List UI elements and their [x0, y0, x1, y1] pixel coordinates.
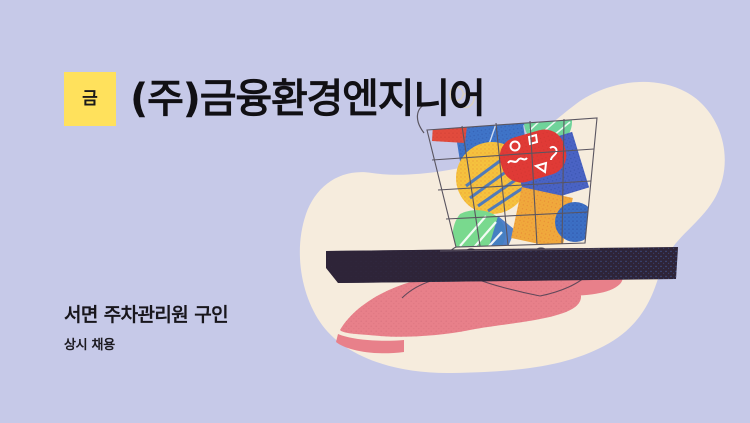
- hand-holding-basket-illustration: [0, 0, 750, 423]
- company-badge: 금: [64, 72, 116, 126]
- job-posting-poster: 금 (주)금융환경엔지니어 서면 주차관리원 구인 상시 채용: [0, 0, 750, 423]
- caption-block: 서면 주차관리원 구인 상시 채용: [64, 304, 228, 353]
- basket-wireframe: [427, 118, 597, 247]
- hiring-status: 상시 채용: [64, 338, 228, 354]
- item-orange-diamond: [511, 187, 573, 249]
- shelf-line: [440, 249, 600, 251]
- item-red-rounded-tag: [495, 125, 571, 187]
- header: 금 (주)금융환경엔지니어: [64, 72, 485, 126]
- finger-lines: [402, 269, 610, 298]
- basket-handle: [417, 104, 575, 256]
- item-green-teal-shape: [453, 210, 515, 256]
- basket-wheels: [464, 248, 548, 263]
- item-blue-dotted-rect: [511, 132, 589, 206]
- item-green-striped-circle: [524, 98, 572, 146]
- bar-speckles: [326, 247, 678, 283]
- job-title: 서면 주차관리원 구인: [64, 304, 228, 328]
- item-blue-sliver: [520, 92, 560, 133]
- item-blue-dotted-circle: [555, 202, 595, 242]
- item-yellow-striped-circle: [456, 142, 528, 214]
- hand: [336, 264, 623, 354]
- company-name: (주)금융환경엔지니어: [130, 79, 485, 119]
- dark-bar: [326, 247, 678, 283]
